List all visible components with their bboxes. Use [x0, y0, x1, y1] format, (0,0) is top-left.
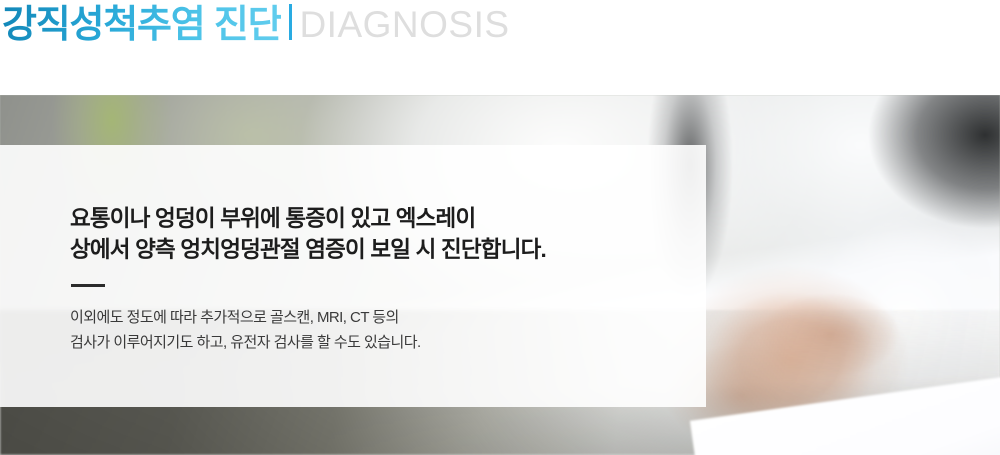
- page-header: 강직성척추염 진단 DIAGNOSIS: [0, 0, 1000, 95]
- diagnosis-subtext: 이외에도 정도에 따라 추가적으로 골스캔, MRI, CT 등의 검사가 이루…: [70, 305, 421, 355]
- headline-divider-rule: [71, 284, 105, 287]
- page-title: 강직성척추염 진단 DIAGNOSIS: [2, 1, 510, 48]
- page-title-korean: 강직성척추염 진단: [2, 2, 281, 48]
- diagnosis-page: 강직성척추염 진단 DIAGNOSIS 요통이나 엉덩이 부위에 통증이 있고 …: [0, 0, 1000, 455]
- page-title-english: DIAGNOSIS: [299, 2, 509, 48]
- banner-photo: 요통이나 엉덩이 부위에 통증이 있고 엑스레이 상에서 양측 엉치엉덩관절 염…: [0, 95, 1000, 455]
- title-divider-bar-icon: [289, 4, 292, 40]
- diagnosis-headline: 요통이나 엉덩이 부위에 통증이 있고 엑스레이 상에서 양측 엉치엉덩관절 염…: [70, 203, 546, 265]
- overlay-text-panel: 요통이나 엉덩이 부위에 통증이 있고 엑스레이 상에서 양측 엉치엉덩관절 염…: [0, 145, 706, 407]
